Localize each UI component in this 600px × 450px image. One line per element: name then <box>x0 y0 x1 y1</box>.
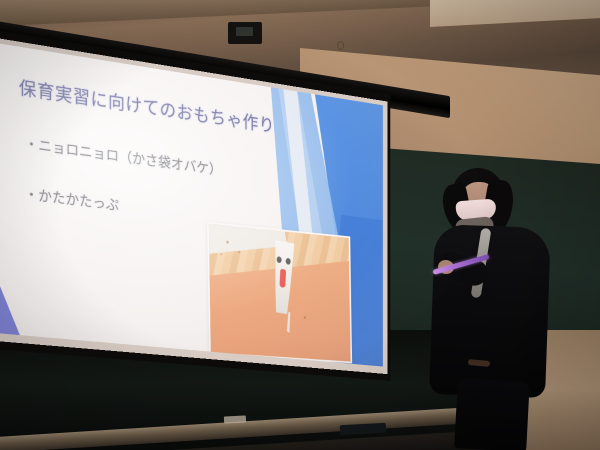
screen-roller-bracket <box>228 22 262 44</box>
slide-bullet-item: ・かたかたっぷ <box>24 183 221 228</box>
chalk-stick <box>224 415 246 423</box>
floor-speck <box>304 316 307 319</box>
bullet-text: かたかたっぷ <box>38 189 119 215</box>
photo-inner <box>209 224 351 362</box>
umbrella-bag-ghost-craft-photo <box>207 222 352 364</box>
bullet-marker: ・ <box>24 137 38 155</box>
slide-title: 保育実習に向けてのおもちゃ作り <box>19 74 275 138</box>
wall-hook-icon <box>337 41 344 50</box>
presenter-legs <box>454 378 530 450</box>
presentation-slide: 保育実習に向けてのおもちゃ作り ・ニョロニョロ（かさ袋オバケ） ・かたかたっぷ <box>0 42 383 367</box>
slide-bullet-list: ・ニョロニョロ（かさ袋オバケ） ・かたかたっぷ <box>24 133 221 256</box>
floor-speck <box>238 251 240 253</box>
ghost-craft-figure <box>269 240 297 316</box>
slide-bullet-item: ・ニョロニョロ（かさ袋オバケ） <box>24 133 221 180</box>
facet-corner-triangle <box>0 256 21 337</box>
classroom-photo-scene: 保育実習に向けてのおもちゃ作り ・ニョロニョロ（かさ袋オバケ） ・かたかたっぷ <box>0 0 600 450</box>
bullet-marker: ・ <box>24 187 38 205</box>
bullet-text: ニョロニョロ（かさ袋オバケ） <box>38 139 221 179</box>
presenter-coat <box>429 224 551 398</box>
presenter <box>430 168 560 450</box>
